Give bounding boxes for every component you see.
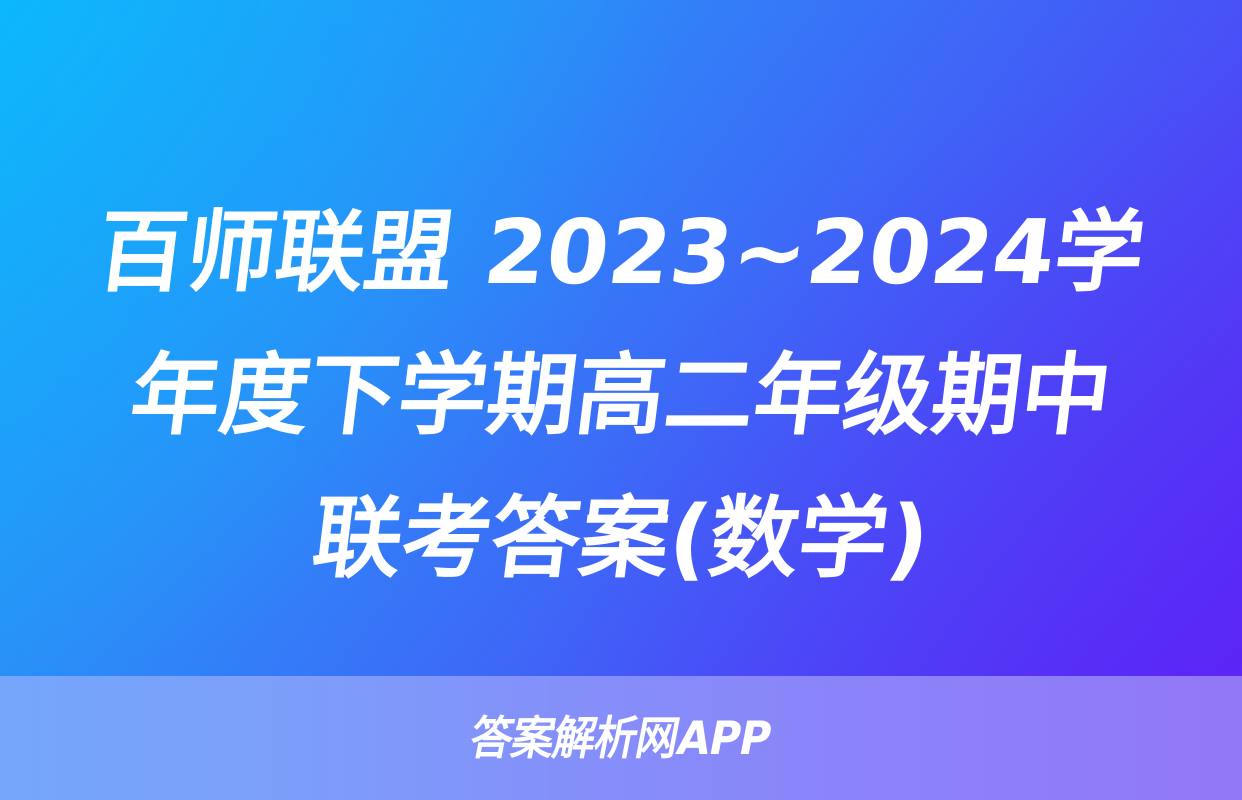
title-line-3: 联考答案(数学) xyxy=(53,467,1189,610)
watermark-band: 答案解析网APP xyxy=(0,676,1242,800)
title-line-1: 百师联盟 2023~2024学 xyxy=(53,181,1189,324)
title-line-2: 年度下学期高二年级期中 xyxy=(53,324,1189,467)
page-title: 百师联盟 2023~2024学 年度下学期高二年级期中 联考答案(数学) xyxy=(0,181,1242,610)
watermark-label: 答案解析网APP xyxy=(467,715,775,761)
answer-poster: 百师联盟 2023~2024学 年度下学期高二年级期中 联考答案(数学) 答案解… xyxy=(0,0,1242,800)
